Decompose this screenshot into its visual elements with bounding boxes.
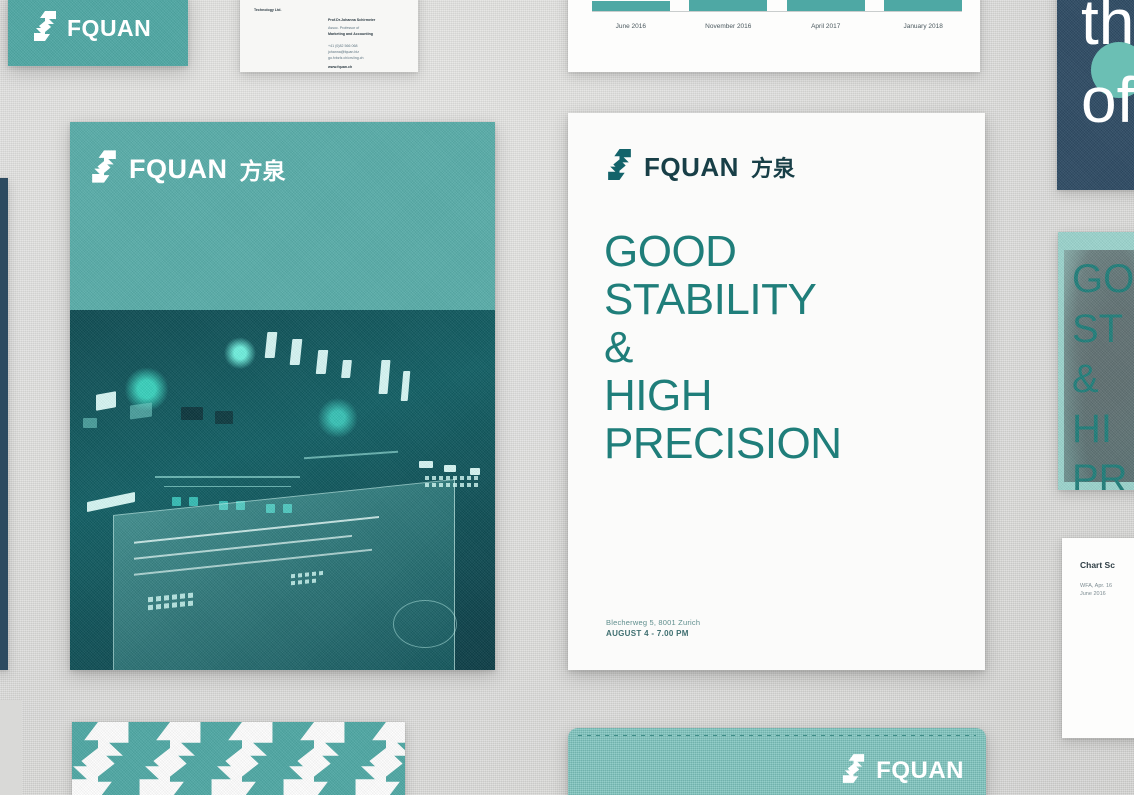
brochure-circuit-photo	[70, 310, 495, 670]
biz-contact-3: go.fvbzfz.ch/crs/ing.ch	[328, 56, 364, 61]
pattern-logo-tile	[72, 722, 134, 795]
chart-bar	[884, 0, 962, 11]
teal-poster-variant: GOST&HIPR	[1058, 232, 1134, 490]
chart-bar	[787, 0, 865, 11]
biz-contact-1: +41 (0)82 566 068	[328, 44, 357, 49]
edge-paper-sliver	[0, 700, 22, 795]
brochure-header-band: FQUAN 方泉	[70, 122, 495, 310]
biz-name: Prof.Dr.Johanna Schirmeier	[328, 18, 375, 23]
chart-bar-label: January 2018	[884, 23, 962, 30]
logo-lockup: FQUAN	[32, 11, 151, 46]
mockup-canvas: FQUAN Technology Ltd. Prof.Dr.Johanna Sc…	[0, 0, 1134, 795]
fquan-logomark-icon	[90, 150, 118, 188]
chart-bar-item	[787, 0, 865, 11]
pattern-logo-tile	[350, 722, 405, 795]
pattern-card	[72, 722, 405, 795]
biz-title-1: Assoc. Professor of	[328, 26, 359, 31]
fquan-logomark-icon	[841, 754, 866, 788]
chart-bar-item: 11,003	[592, 0, 670, 11]
logo-pattern-row	[72, 722, 405, 795]
top-left-teal-card: FQUAN	[8, 0, 188, 66]
navy-line-2: of	[1081, 70, 1134, 130]
chart-bar	[592, 1, 670, 11]
teal-poster-headline-line-3: HI	[1072, 404, 1134, 454]
poster-headline-line-2: &	[604, 324, 965, 372]
fabric-logo-lockup: FQUAN	[841, 754, 964, 788]
chart-bars-group: 11,00334,000	[592, 0, 962, 11]
teal-poster-headline-line-2: &	[1072, 354, 1134, 404]
poster-headline-line-1: STABILITY	[604, 276, 965, 324]
biz-website: www.fquan.ch	[328, 65, 352, 70]
poster-headline-line-4: PRECISION	[604, 420, 965, 468]
pattern-logo-tile	[278, 722, 350, 795]
brochure-wordmark-cn: 方泉	[240, 152, 286, 186]
poster-logo-lockup: FQUAN 方泉	[606, 149, 795, 185]
event-poster: FQUAN 方泉 GOODSTABILITY&HIGHPRECISION Ble…	[568, 113, 985, 670]
chart-card: 11,00334,000 June 2016November 2016April…	[568, 0, 980, 72]
fabric-folder: FQUAN	[568, 728, 986, 795]
poster-wordmark-cn: 方泉	[751, 151, 795, 183]
brochure-logo-lockup: FQUAN 方泉	[90, 150, 286, 188]
poster-headline-line-3: HIGH	[604, 372, 965, 420]
poster-wordmark: FQUAN	[644, 152, 739, 183]
logo-wordmark: FQUAN	[67, 15, 151, 42]
pcb-pad-grid	[148, 592, 193, 610]
teal-poster-headline: GOST&HIPR	[1072, 254, 1134, 490]
brochure-cover: FQUAN 方泉	[70, 122, 495, 670]
pattern-logo-tile	[206, 722, 278, 795]
poster-date: AUGUST 4 - 7.00 PM	[606, 629, 700, 638]
poster-address: Blecherweg 5, 8001 Zurich	[606, 618, 700, 627]
chart-axis-line	[592, 11, 962, 12]
biz-corner-label: Technology Ltd.	[254, 8, 281, 13]
fquan-logomark-icon	[32, 11, 58, 46]
brochure-wordmark: FQUAN	[129, 154, 228, 185]
chart-bar-label: November 2016	[689, 23, 767, 30]
chart-bar	[689, 0, 767, 11]
poster-footer: Blecherweg 5, 8001 Zurich AUGUST 4 - 7.0…	[606, 618, 700, 638]
chart-sheet-sub-1: WFA, Apr. 16	[1080, 582, 1112, 590]
stitch-line	[578, 735, 976, 736]
chart-bar-item: 34,000	[689, 0, 767, 11]
chart-sheet-title: Chart Sc	[1080, 560, 1115, 570]
fabric-wordmark: FQUAN	[876, 757, 964, 785]
business-card: Technology Ltd. Prof.Dr.Johanna Schirmei…	[240, 0, 418, 72]
teal-poster-headline-line-0: GO	[1072, 254, 1134, 304]
chart-bar-label: June 2016	[592, 23, 670, 30]
fquan-logomark-icon	[606, 149, 633, 185]
chart-bar-item	[884, 0, 962, 11]
bar-chart: 11,00334,000 June 2016November 2016April…	[592, 0, 962, 38]
teal-poster-headline-line-4: PR	[1072, 454, 1134, 490]
biz-title-2: Marketing and Accounting	[328, 32, 373, 37]
teal-poster-headline-line-1: ST	[1072, 304, 1134, 354]
pcb-circle-detail	[393, 600, 457, 648]
poster-headline: GOODSTABILITY&HIGHPRECISION	[604, 228, 965, 468]
edge-navy-strip	[0, 178, 8, 670]
biz-contact-2: johanna@fquan.biz	[328, 50, 359, 55]
chart-sheet-sub-2: June 2016	[1080, 590, 1112, 598]
chart-bar-label: April 2017	[787, 23, 865, 30]
pattern-logo-tile	[134, 722, 206, 795]
navy-poster: th of	[1057, 0, 1134, 190]
chart-category-labels: June 2016November 2016April 2017January …	[592, 23, 962, 30]
chart-sheet: Chart Sc WFA, Apr. 16 June 2016	[1062, 538, 1134, 738]
chart-sheet-subtitle: WFA, Apr. 16 June 2016	[1080, 582, 1112, 598]
poster-headline-line-0: GOOD	[604, 228, 965, 276]
